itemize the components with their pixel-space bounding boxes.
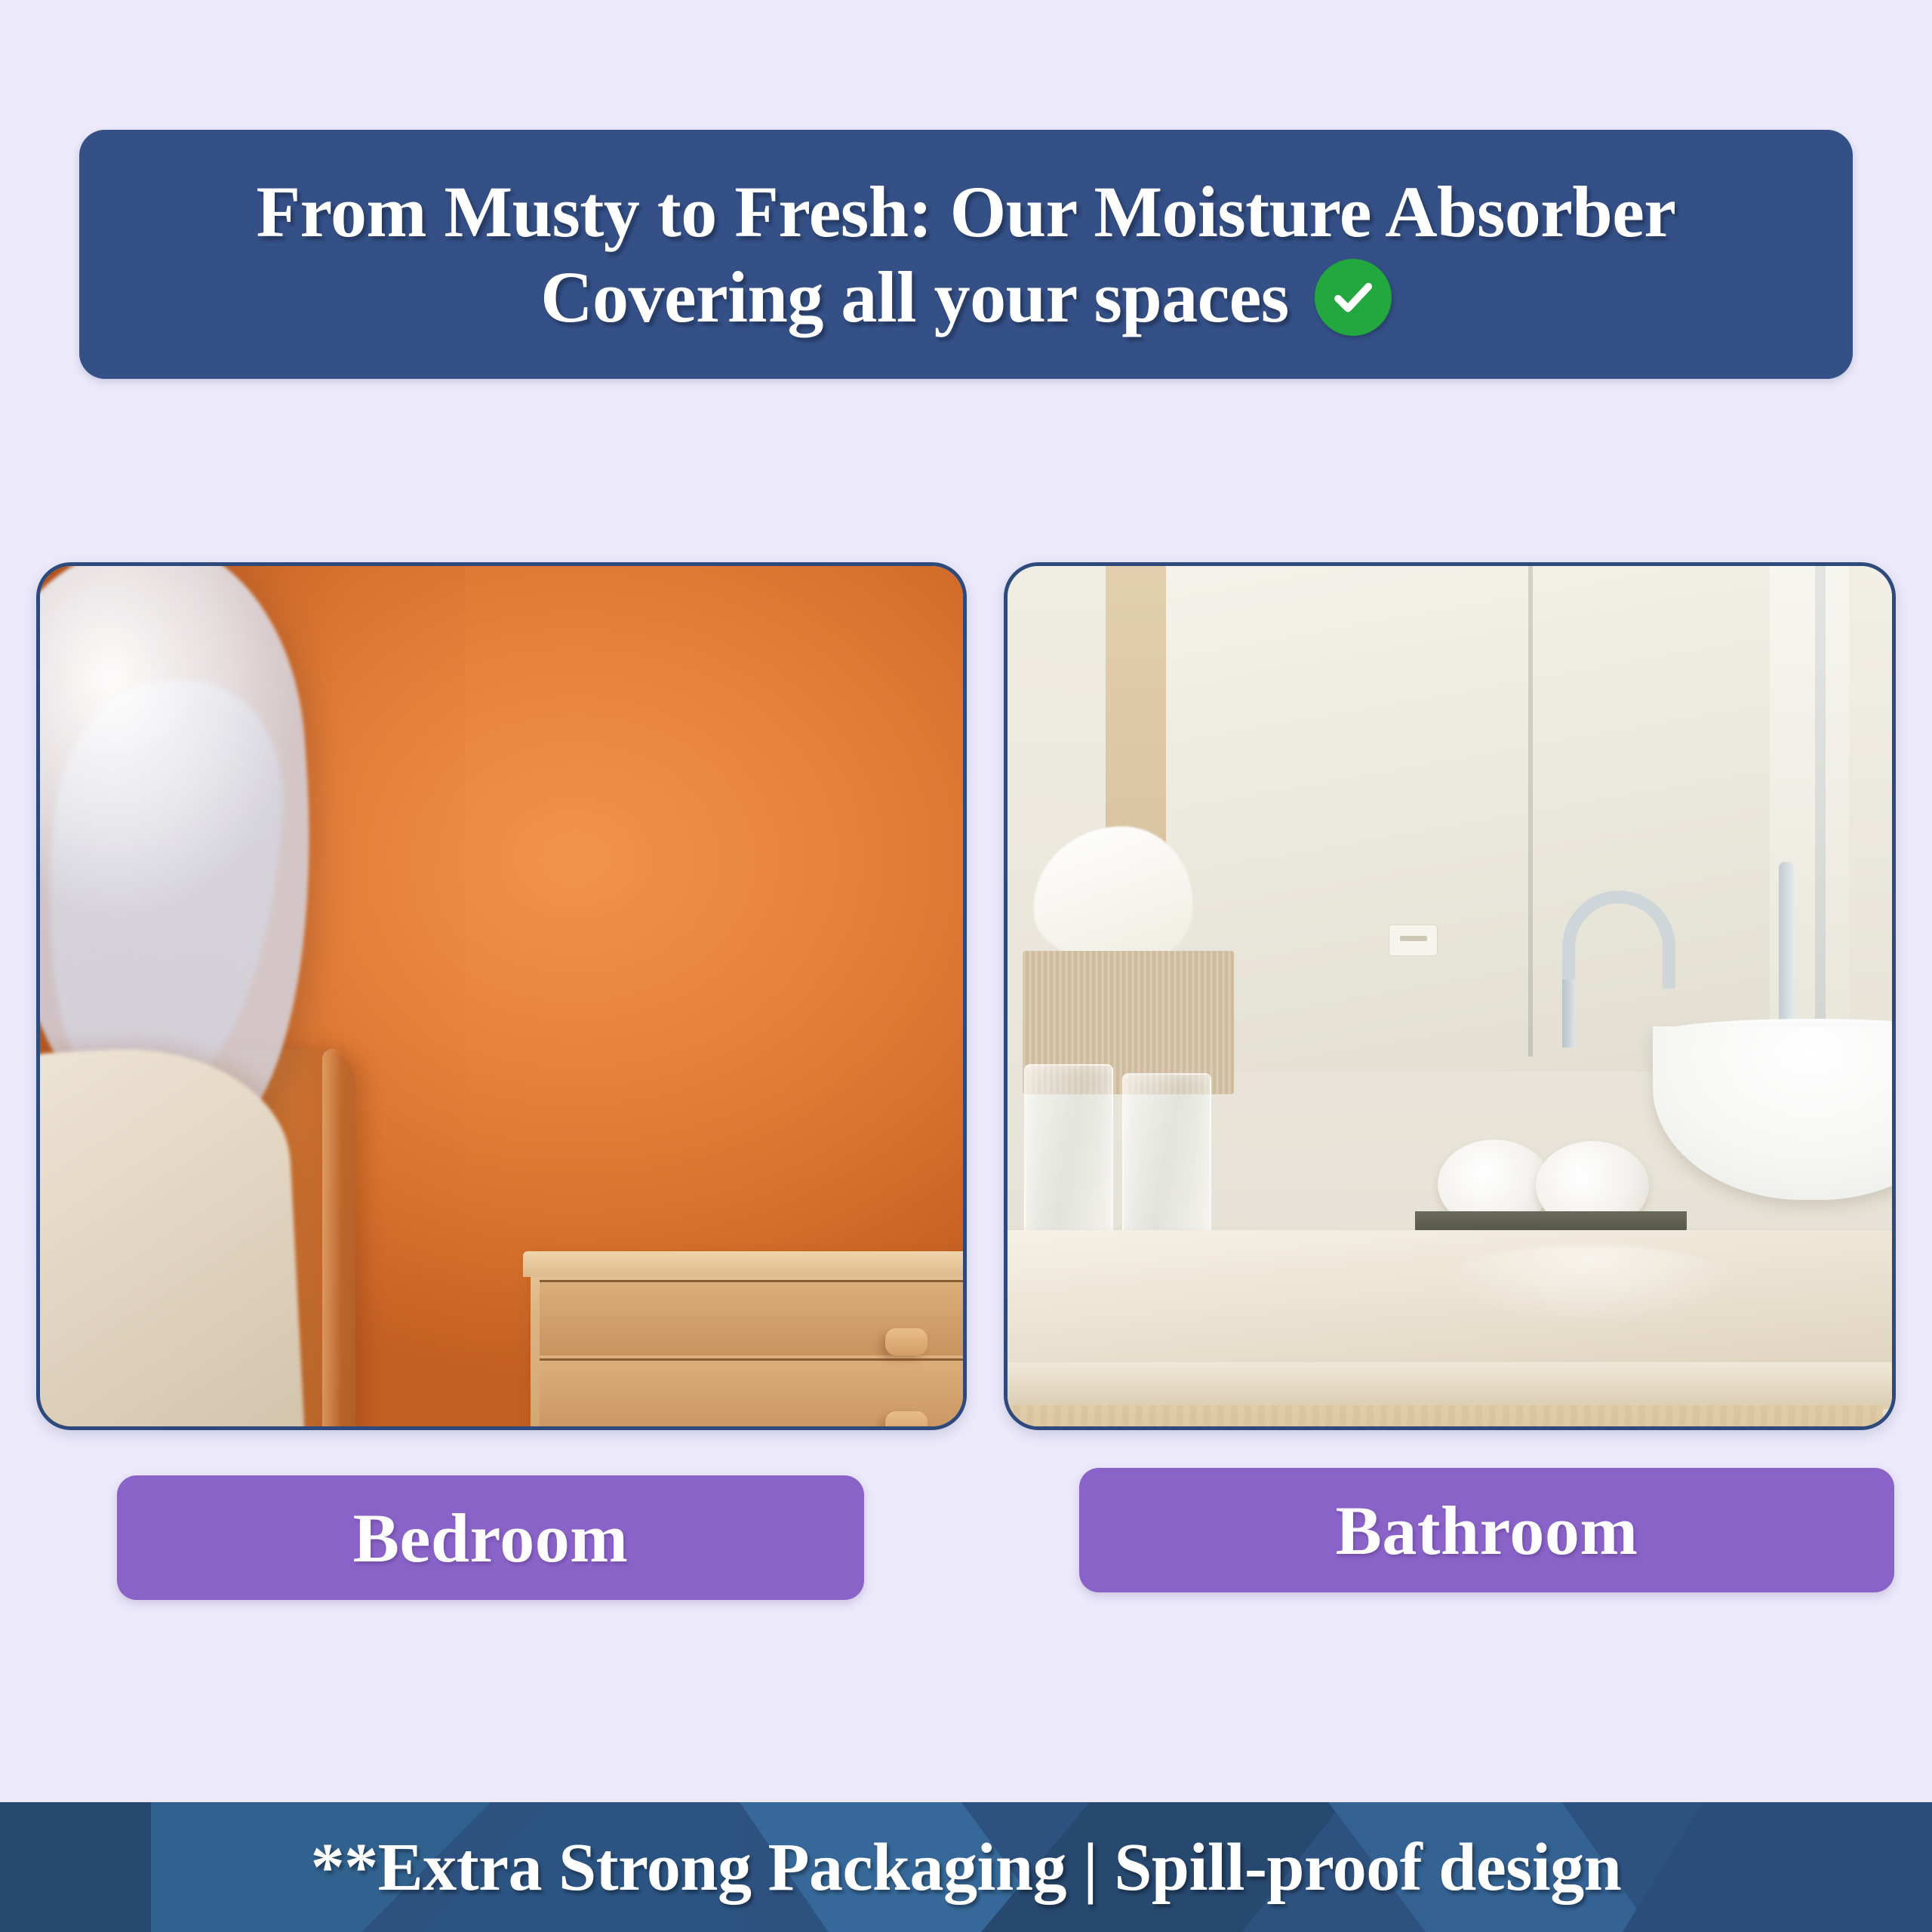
bathroom-scene: HOMESTRAP 3X Stronger Lavender Fragrance…: [1008, 566, 1892, 1426]
wooden-vanity: [1008, 1405, 1883, 1426]
bathroom-photo-frame: HOMESTRAP 3X Stronger Lavender Fragrance…: [1004, 562, 1896, 1430]
headline-line-2-row: Covering all your spaces: [256, 254, 1675, 340]
faucet-spout: [1562, 891, 1675, 989]
drinking-glass: [1024, 1064, 1113, 1253]
countertop-edge: [1008, 1362, 1892, 1409]
footer-text: **Extra Strong Packaging | Spill-proof d…: [311, 1829, 1622, 1906]
caption-bathroom: Bathroom: [1079, 1468, 1894, 1592]
faucet-stem: [1562, 980, 1575, 1048]
footer-shape: [1623, 1802, 1932, 1932]
wall-panel-right: [1849, 566, 1892, 1079]
glass-door: [1815, 566, 1826, 1087]
counter-reflection: [1430, 1245, 1747, 1328]
headline-banner: From Musty to Fresh: Our Moisture Absorb…: [79, 130, 1853, 379]
drawer-knob-lower: [885, 1411, 928, 1426]
footer-banner: **Extra Strong Packaging | Spill-proof d…: [0, 1802, 1932, 1932]
caption-bedroom-label: Bedroom: [353, 1498, 629, 1578]
faucet-reflection: [1779, 862, 1794, 1028]
headline-line-2: Covering all your spaces: [540, 254, 1289, 340]
promo-canvas: From Musty to Fresh: Our Moisture Absorb…: [0, 0, 1932, 1932]
drawer-knob-upper: [885, 1328, 928, 1355]
footer-shape: [0, 1802, 151, 1932]
green-check-circle-icon: [1315, 259, 1392, 336]
headline-text-group: From Musty to Fresh: Our Moisture Absorb…: [226, 169, 1706, 340]
faucet: [1562, 891, 1675, 1041]
mirror: [1166, 566, 1770, 1072]
bedroom-scene: HOMESTRAP 3X Stronger Lavender Fragrance…: [40, 566, 963, 1426]
wall-outlet: [1389, 924, 1438, 956]
bedroom-photo-frame: HOMESTRAP 3X Stronger Lavender Fragrance…: [36, 562, 967, 1430]
caption-bathroom-label: Bathroom: [1336, 1491, 1638, 1571]
caption-bedroom: Bedroom: [117, 1475, 864, 1600]
drinking-glass: [1122, 1073, 1211, 1251]
mirror-edge: [1528, 566, 1533, 1057]
headline-line-1: From Musty to Fresh: Our Moisture Absorb…: [256, 169, 1675, 254]
nightstand-top: [523, 1251, 963, 1277]
